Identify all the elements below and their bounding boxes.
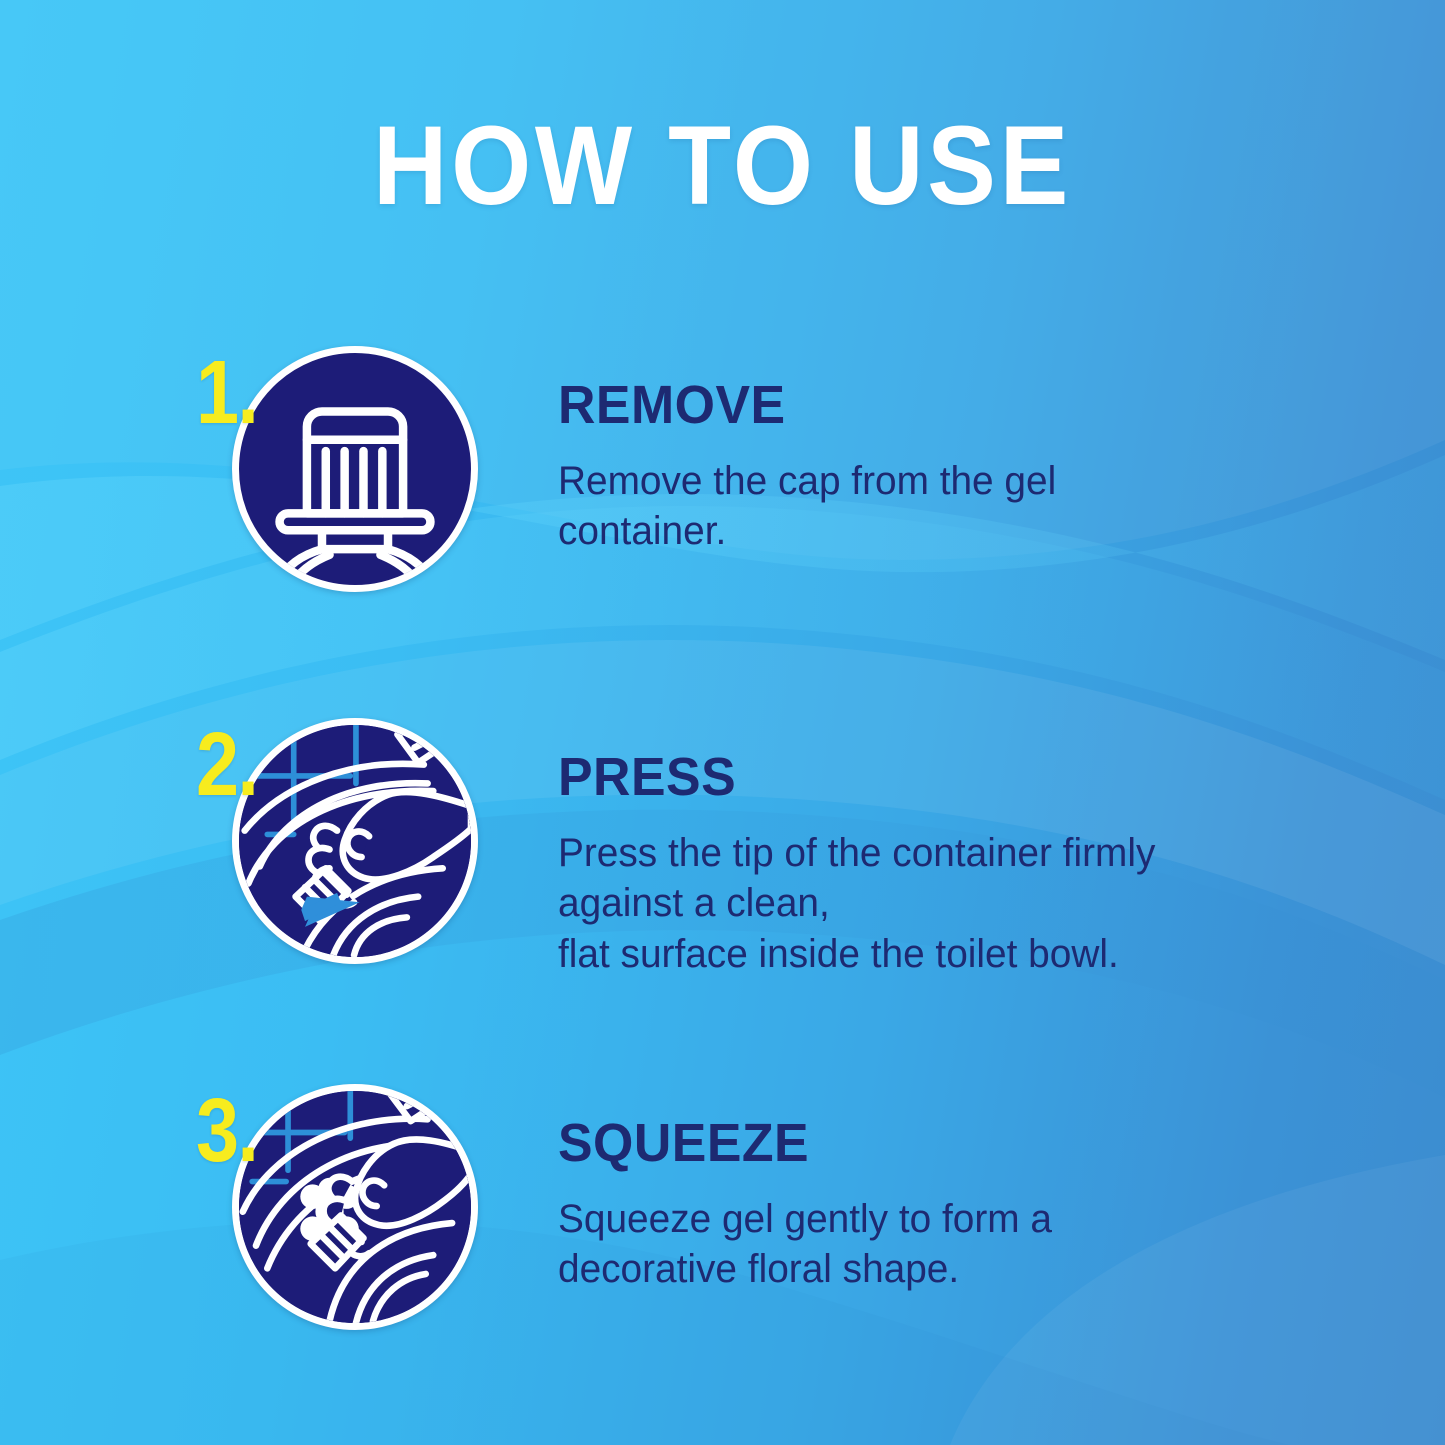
step-description-line: flat surface inside the toilet bowl.: [558, 929, 1353, 979]
step-description-line: against a clean,: [558, 878, 1353, 928]
step-heading-1: REMOVE: [558, 378, 1345, 432]
step-item-1: 1.: [0, 330, 1445, 630]
step-description-line: Remove the cap from the gel: [558, 456, 1353, 506]
step-description-3: Squeeze gel gently to form a decorative …: [558, 1194, 1353, 1295]
step-number-1: 1.: [196, 348, 257, 438]
step-description-line: decorative floral shape.: [558, 1244, 1353, 1294]
gel-container-cap-icon: [232, 346, 478, 592]
step-number-2: 2.: [196, 720, 257, 810]
step-number-3: 3.: [196, 1086, 257, 1176]
hand-squeezing-floral-gel-icon: [232, 1084, 478, 1330]
step-heading-2: PRESS: [558, 750, 1345, 804]
page-title: HOW TO USE: [58, 104, 1387, 227]
hand-pressing-container-in-toilet-bowl-icon: [232, 718, 478, 964]
step-description-2: Press the tip of the container firmly ag…: [558, 828, 1353, 979]
step-item-3: 3.: [0, 1068, 1445, 1368]
step-text-1: REMOVE Remove the cap from the gel conta…: [558, 378, 1378, 557]
step-description-1: Remove the cap from the gel container.: [558, 456, 1353, 557]
step-item-2: 2.: [0, 702, 1445, 1002]
how-to-use-infographic: HOW TO USE 1.: [0, 0, 1445, 1445]
step-text-3: SQUEEZE Squeeze gel gently to form a dec…: [558, 1116, 1378, 1295]
step-description-line: container.: [558, 506, 1353, 556]
step-heading-3: SQUEEZE: [558, 1116, 1345, 1170]
step-text-2: PRESS Press the tip of the container fir…: [558, 750, 1378, 979]
step-description-line: Squeeze gel gently to form a: [558, 1194, 1353, 1244]
step-description-line: Press the tip of the container firmly: [558, 828, 1353, 878]
